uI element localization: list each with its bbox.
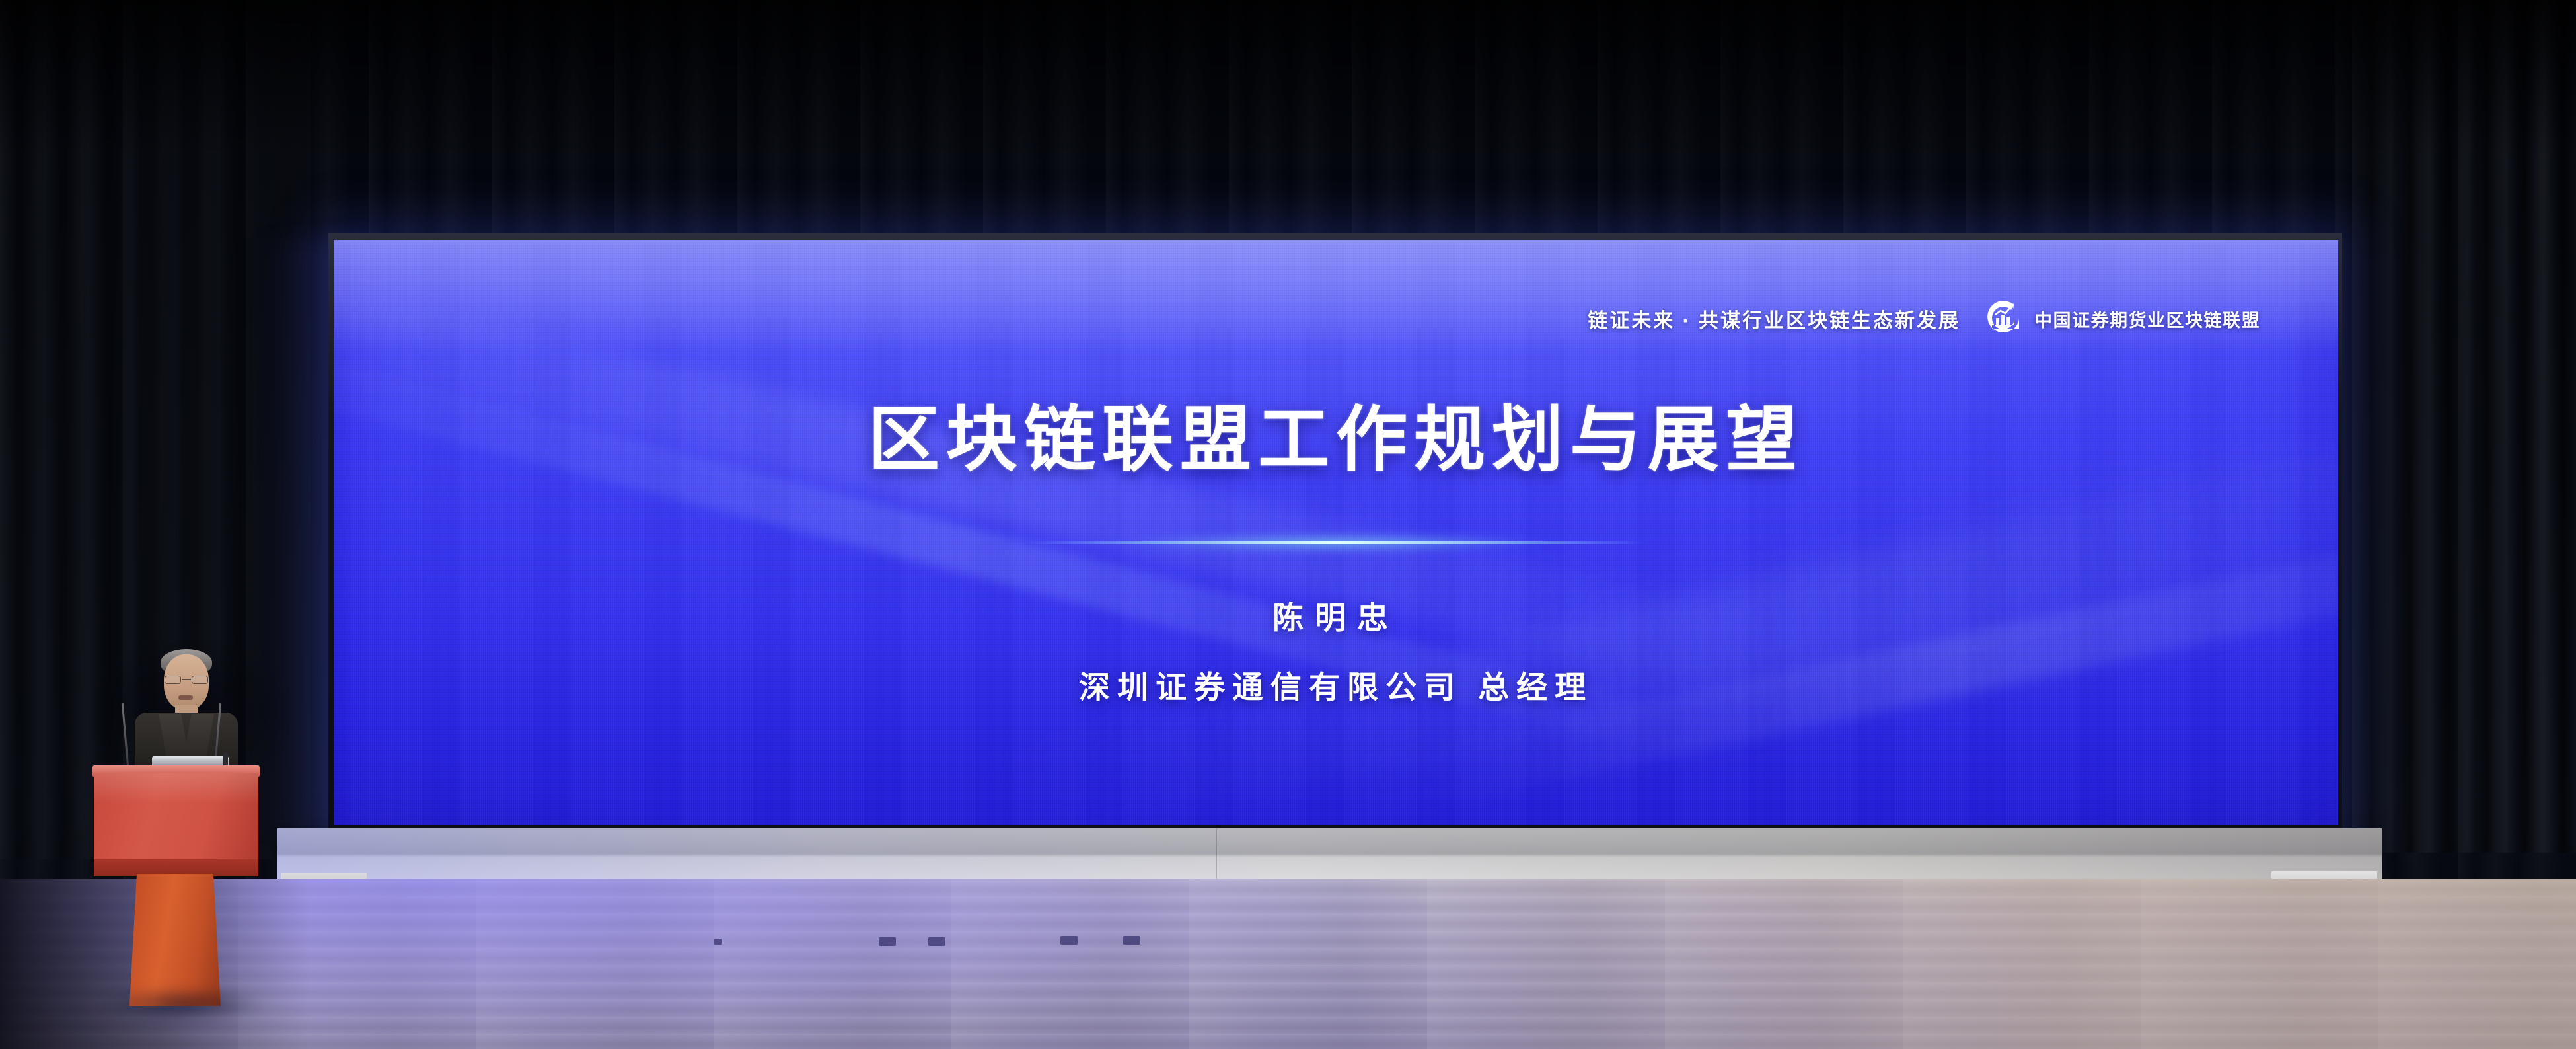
speaker-affiliation: 深圳证券通信有限公司 总经理	[1079, 662, 1593, 707]
divider-line	[1025, 541, 1646, 544]
eyeglasses-icon	[164, 676, 209, 684]
podium-and-speaker	[92, 648, 291, 1049]
floor-marker	[1123, 936, 1140, 945]
alliance-logo-block: 中国证券期货业区块链联盟	[1983, 298, 2260, 339]
podium-front-panel	[94, 773, 258, 863]
glasses-lens-right	[192, 676, 208, 684]
floor-marker	[714, 939, 722, 945]
title-divider	[1025, 534, 1646, 551]
slide-header-strip: 链证未来 · 共谋行业区块链生态新发展 中国证券期货业区块链联盟	[1588, 298, 2260, 339]
speaker-name: 陈明忠	[1272, 592, 1399, 638]
floor-marker	[879, 937, 896, 946]
event-slogan: 链证未来 · 共谋行业区块链生态新发展	[1588, 304, 1960, 333]
ceiling-shadow	[0, 0, 2576, 159]
stage-floor	[0, 879, 2576, 1049]
conference-stage-photo: 链证未来 · 共谋行业区块链生态新发展 中国证券期货业区块链联盟 区块链联盟	[0, 0, 2576, 1049]
led-presentation-screen[interactable]: 链证未来 · 共谋行业区块链生态新发展 中国证券期货业区块链联盟 区块链联盟	[334, 240, 2338, 825]
stage-riser-lighting	[277, 828, 2382, 884]
slide-title: 区块链联盟工作规划与展望	[868, 382, 1804, 485]
podium-highlight	[94, 773, 258, 804]
circular-bar-chart-growth-arrow-logo-icon	[1983, 298, 2024, 339]
glasses-lens-left	[165, 676, 181, 684]
podium-floor-shadow	[99, 988, 284, 1028]
podium-column	[129, 874, 221, 1006]
floor-warm-lighting	[1354, 879, 2576, 1049]
slide-body: 区块链联盟工作规划与展望 陈明忠 深圳证券通信有限公司 总经理	[334, 382, 2338, 707]
alliance-name-label: 中国证券期货业区块链联盟	[2034, 306, 2260, 332]
speaker-mouth	[178, 695, 193, 700]
glasses-bridge	[182, 679, 191, 680]
floor-marker	[928, 937, 945, 946]
floor-marker	[1060, 936, 1078, 945]
